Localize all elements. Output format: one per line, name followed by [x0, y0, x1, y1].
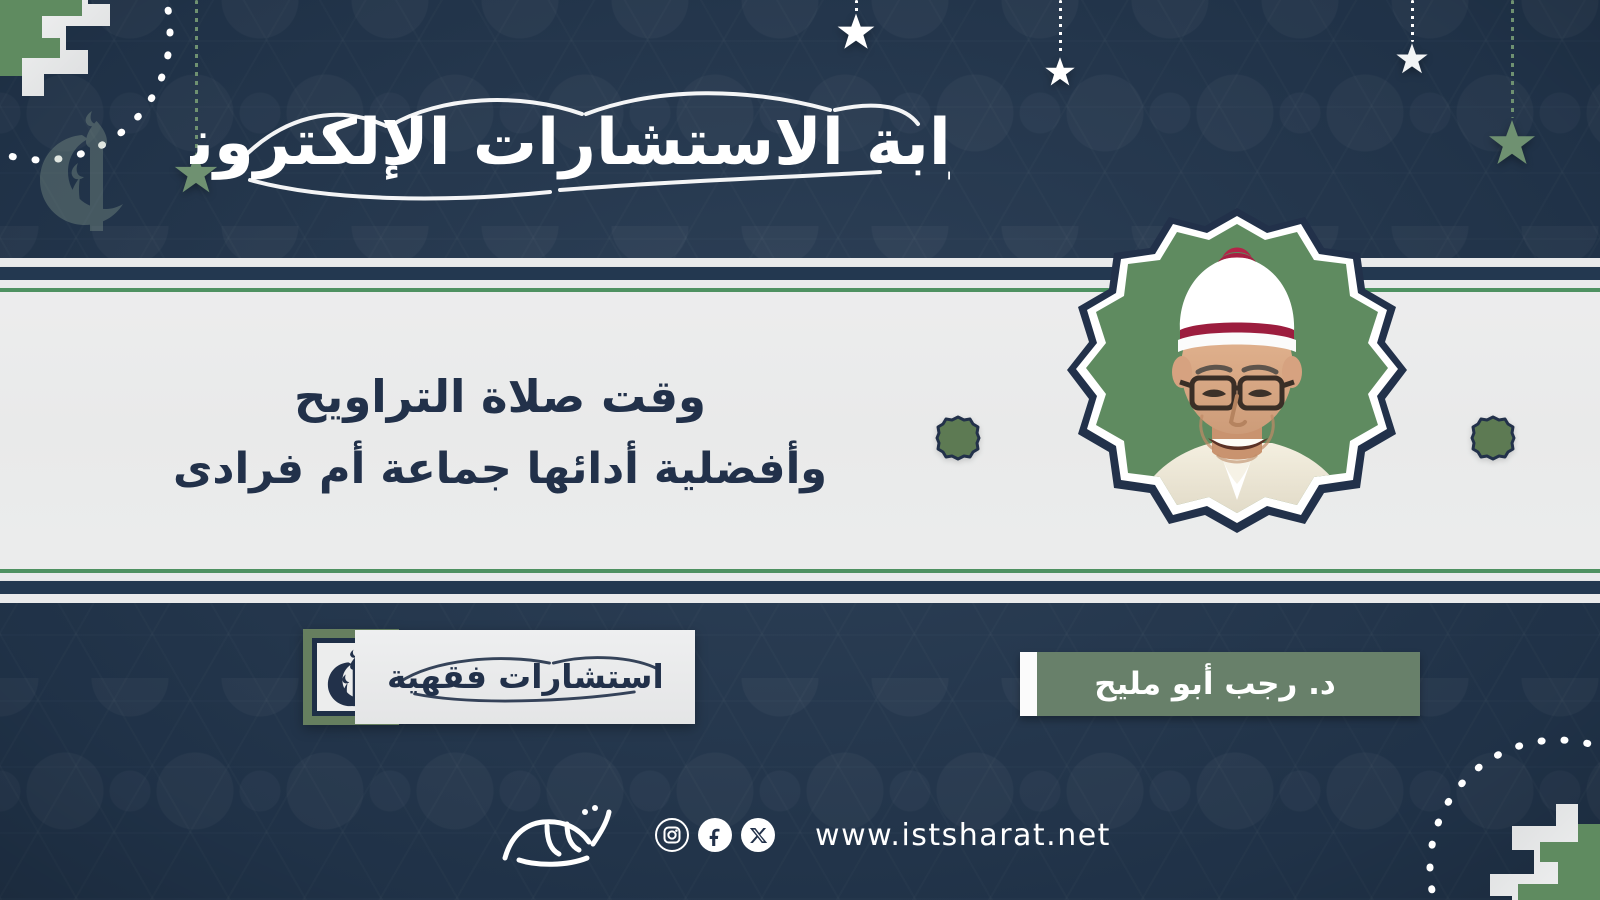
hanging-star-white-right — [1044, 0, 1076, 88]
hanging-star-green-far-string — [1511, 0, 1514, 118]
speaker-portrait — [1022, 200, 1452, 620]
badge-label-plate: استشارات فقهية — [355, 630, 695, 724]
hanging-star-green-far — [1487, 0, 1537, 168]
facebook-icon[interactable] — [698, 818, 732, 852]
hanging-star-white-right-string — [1059, 0, 1062, 56]
almujtama-logo[interactable]: المجتمع — [489, 796, 629, 874]
instagram-icon[interactable] — [655, 818, 689, 852]
social-links — [655, 818, 775, 852]
poster-canvas: بوابة الاستشارات الإلكترونية — [0, 0, 1600, 900]
question-title: وقت صلاة التراويح وأفضلية أدائها جماعة أ… — [60, 300, 940, 565]
hanging-star-white-mid-string — [855, 0, 858, 12]
speaker-name-text: د. رجب أبو مليح — [1020, 666, 1420, 702]
badge-label-text: استشارات فقهية — [387, 659, 664, 697]
portal-title-text: بوابة الاستشارات الإلكترونية — [190, 106, 950, 180]
speaker-name-bar: د. رجب أبو مليح — [1020, 652, 1420, 716]
question-title-line-1: وقت صلاة التراويح — [294, 370, 706, 425]
hanging-star-white-far-glyph — [1395, 42, 1429, 76]
hanging-star-white-right-glyph — [1044, 56, 1076, 88]
hanging-star-white-mid — [836, 0, 876, 52]
footer-bar: المجتمع www.istsharat — [0, 796, 1600, 874]
rosette-ornament-left — [935, 415, 981, 461]
portal-title-calligraphy: بوابة الاستشارات الإلكترونية — [190, 52, 950, 227]
hanging-star-white-mid-glyph — [836, 12, 876, 52]
x-icon[interactable] — [741, 818, 775, 852]
question-title-line-2: وأفضلية أدائها جماعة أم فرادى — [173, 443, 827, 495]
hanging-star-white-far — [1395, 0, 1429, 76]
hanging-star-white-far-string — [1411, 0, 1414, 42]
rosette-ornament-right — [1470, 415, 1516, 461]
website-url[interactable]: www.istsharat.net — [815, 818, 1111, 853]
category-badge[interactable]: استشارات فقهية — [303, 622, 695, 732]
name-bar-accent-tick — [1020, 652, 1037, 716]
hanging-star-green-far-glyph — [1487, 118, 1537, 168]
mosque-crescent-watermark-icon — [18, 105, 153, 255]
